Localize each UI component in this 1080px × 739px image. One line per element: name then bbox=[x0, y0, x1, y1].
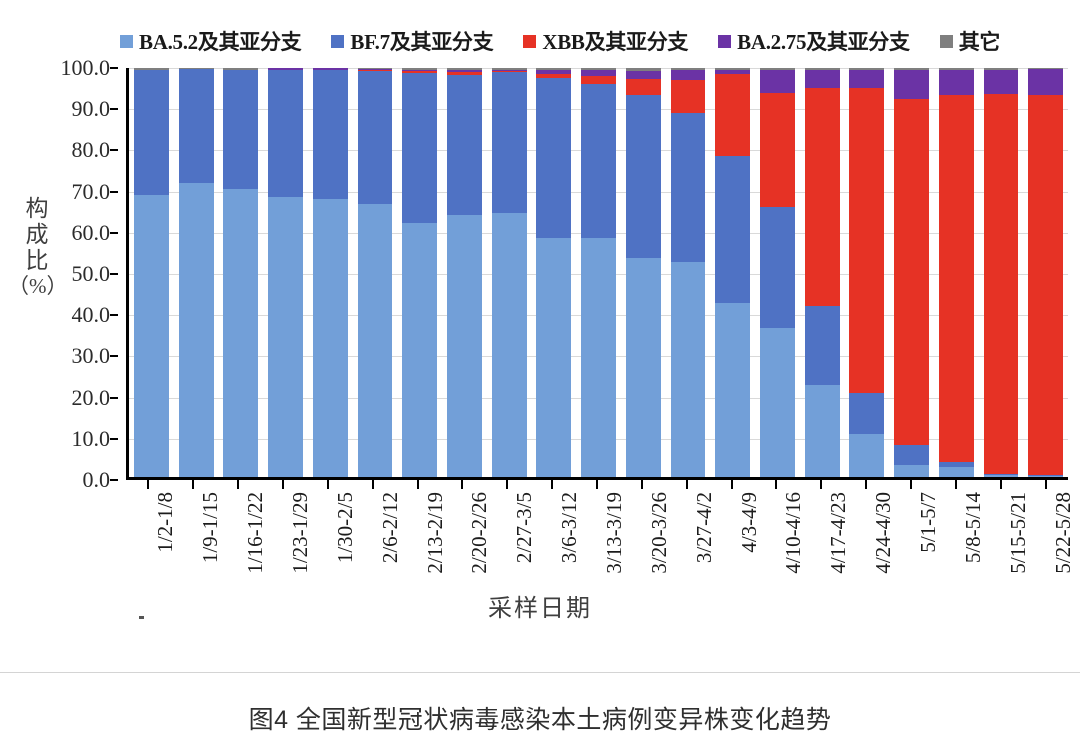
bar-segment-1 bbox=[626, 95, 661, 259]
y-tick-label-3: 30.0 bbox=[72, 343, 111, 369]
bar-segment-2 bbox=[805, 88, 840, 306]
bar-segment-0 bbox=[760, 328, 795, 477]
bar-segment-2 bbox=[1028, 95, 1063, 475]
legend-label-4: 其它 bbox=[959, 26, 1000, 56]
x-label-cell: 3/6-3/12 bbox=[530, 492, 575, 584]
legend-swatch-icon-3 bbox=[718, 35, 731, 48]
y-tick-mark-10 bbox=[110, 67, 118, 69]
x-tick-mark bbox=[596, 480, 598, 489]
bar-segment-3 bbox=[939, 70, 974, 95]
bar-column[interactable] bbox=[531, 68, 576, 477]
bar-segment-1 bbox=[671, 113, 706, 262]
stacked-bar bbox=[894, 68, 929, 477]
stacked-bar bbox=[223, 68, 258, 477]
bar-segment-2 bbox=[715, 74, 750, 156]
bar-segment-0 bbox=[492, 213, 527, 477]
x-label-cell: 1/2-1/8 bbox=[126, 492, 171, 584]
stacked-bar bbox=[179, 68, 214, 477]
stacked-bar bbox=[984, 68, 1019, 477]
y-axis-ticks: 0.010.020.030.040.050.060.070.080.090.01… bbox=[46, 60, 118, 485]
x-tick-mark bbox=[372, 480, 374, 489]
bar-segment-3 bbox=[849, 70, 884, 88]
stacked-bar bbox=[402, 68, 437, 477]
bar-segment-0 bbox=[268, 197, 303, 477]
bar-column[interactable] bbox=[1023, 68, 1068, 477]
x-tick-mark bbox=[686, 480, 688, 489]
bar-segment-3 bbox=[626, 71, 661, 79]
plot-area bbox=[126, 68, 1068, 480]
bar-segment-0 bbox=[1028, 476, 1063, 477]
stacked-bar bbox=[581, 68, 616, 477]
legend-item-1[interactable]: BF.7及其亚分支 bbox=[331, 26, 493, 56]
x-tick-cell bbox=[350, 480, 395, 490]
x-tick-mark bbox=[1045, 480, 1047, 489]
bar-segment-3 bbox=[805, 70, 840, 88]
bar-segment-2 bbox=[760, 93, 795, 208]
legend-item-3[interactable]: BA.2.75及其亚分支 bbox=[718, 26, 910, 56]
x-label-cell: 1/9-1/15 bbox=[171, 492, 216, 584]
y-tick-mark-6 bbox=[110, 232, 118, 234]
bar-segment-3 bbox=[671, 70, 706, 80]
stacked-bar bbox=[268, 68, 303, 477]
x-tick-cell bbox=[1023, 480, 1068, 490]
x-tick-mark bbox=[237, 480, 239, 489]
stacked-bar bbox=[1028, 68, 1063, 477]
bar-column[interactable] bbox=[755, 68, 800, 477]
bar-column[interactable] bbox=[800, 68, 845, 477]
bar-segment-0 bbox=[179, 183, 214, 477]
bar-segment-0 bbox=[805, 385, 840, 477]
x-label-cell: 5/15-5/21 bbox=[978, 492, 1023, 584]
legend-swatch-icon-0 bbox=[120, 35, 133, 48]
bar-segment-1 bbox=[536, 78, 571, 238]
legend-label-1: BF.7及其亚分支 bbox=[350, 26, 493, 56]
x-tick-cell bbox=[619, 480, 664, 490]
x-tick-cell bbox=[440, 480, 485, 490]
stacked-bar bbox=[358, 68, 393, 477]
bar-segment-2 bbox=[984, 94, 1019, 474]
x-axis-labels: 1/2-1/81/9-1/151/16-1/221/23-1/291/30-2/… bbox=[126, 492, 1068, 584]
y-tick-label-8: 80.0 bbox=[72, 137, 111, 163]
x-label-cell: 3/13-3/19 bbox=[575, 492, 620, 584]
y-tick-mark-4 bbox=[110, 314, 118, 316]
bar-segment-0 bbox=[536, 238, 571, 477]
bar-segment-1 bbox=[268, 70, 303, 197]
y-tick-mark-3 bbox=[110, 355, 118, 357]
bar-segment-2 bbox=[894, 99, 929, 445]
bar-column[interactable] bbox=[397, 68, 442, 477]
x-label-cell: 4/3-4/9 bbox=[709, 492, 754, 584]
bar-column[interactable] bbox=[174, 68, 219, 477]
x-tick-mark bbox=[955, 480, 957, 489]
y-tick-label-9: 90.0 bbox=[72, 96, 111, 122]
x-tick-mark bbox=[775, 480, 777, 489]
x-tick-cell bbox=[126, 480, 171, 490]
x-tick-cell bbox=[933, 480, 978, 490]
x-tick-cell bbox=[799, 480, 844, 490]
x-tick-cell bbox=[261, 480, 306, 490]
y-tick-label-2: 20.0 bbox=[72, 385, 111, 411]
x-tick-cell bbox=[754, 480, 799, 490]
bar-column[interactable] bbox=[218, 68, 263, 477]
stacked-bar bbox=[849, 68, 884, 477]
x-tick-mark bbox=[327, 480, 329, 489]
bar-segment-1 bbox=[402, 73, 437, 223]
x-label-cell: 2/13-2/19 bbox=[395, 492, 440, 584]
legend-item-4[interactable]: 其它 bbox=[940, 26, 1000, 56]
y-tick-mark-8 bbox=[110, 149, 118, 151]
bar-segment-2 bbox=[849, 88, 884, 393]
x-tick-cell bbox=[889, 480, 934, 490]
bar-segment-0 bbox=[447, 215, 482, 477]
x-axis-label: 5/22-5/28 bbox=[1053, 492, 1074, 574]
bar-column[interactable] bbox=[308, 68, 353, 477]
stacked-bar bbox=[134, 68, 169, 477]
chart-page: BA.5.2及其亚分支BF.7及其亚分支XBB及其亚分支BA.2.75及其亚分支… bbox=[0, 0, 1080, 739]
stacked-bar bbox=[536, 68, 571, 477]
bar-segment-0 bbox=[358, 204, 393, 477]
x-tick-mark bbox=[865, 480, 867, 489]
bar-segment-1 bbox=[447, 75, 482, 215]
bar-segment-0 bbox=[894, 465, 929, 477]
x-label-cell: 1/23-1/29 bbox=[261, 492, 306, 584]
bar-segment-1 bbox=[223, 70, 258, 189]
bar-column[interactable] bbox=[666, 68, 711, 477]
x-label-cell: 5/8-5/14 bbox=[933, 492, 978, 584]
y-tick-mark-5 bbox=[110, 273, 118, 275]
x-tick-cell bbox=[575, 480, 620, 490]
x-axis-ticks bbox=[126, 480, 1068, 490]
bar-segment-1 bbox=[492, 72, 527, 213]
bar-segment-2 bbox=[626, 79, 661, 95]
bar-segment-1 bbox=[134, 70, 169, 194]
x-tick-mark bbox=[1000, 480, 1002, 489]
bar-segment-3 bbox=[1028, 69, 1063, 94]
y-tick-label-0: 0.0 bbox=[83, 467, 111, 493]
bar-column[interactable] bbox=[889, 68, 934, 477]
stacked-bar bbox=[760, 68, 795, 477]
stacked-bar bbox=[492, 68, 527, 477]
bar-segment-3 bbox=[894, 70, 929, 99]
x-tick-cell bbox=[844, 480, 889, 490]
legend-swatch-icon-4 bbox=[940, 35, 953, 48]
x-label-cell: 4/24-4/30 bbox=[844, 492, 889, 584]
legend-item-2[interactable]: XBB及其亚分支 bbox=[523, 26, 688, 56]
x-tick-cell bbox=[171, 480, 216, 490]
bar-segment-0 bbox=[402, 223, 437, 477]
x-tick-mark bbox=[147, 480, 149, 489]
x-tick-cell bbox=[978, 480, 1023, 490]
chart-legend: BA.5.2及其亚分支BF.7及其亚分支XBB及其亚分支BA.2.75及其亚分支… bbox=[120, 26, 1070, 56]
x-tick-mark bbox=[506, 480, 508, 489]
bar-segment-3 bbox=[760, 70, 795, 92]
bar-segment-1 bbox=[715, 156, 750, 303]
x-tick-mark bbox=[282, 480, 284, 489]
x-label-cell: 2/6-2/12 bbox=[350, 492, 395, 584]
bar-segment-0 bbox=[849, 434, 884, 477]
section-divider bbox=[0, 672, 1080, 673]
x-label-cell: 5/1-5/7 bbox=[889, 492, 934, 584]
x-tick-mark bbox=[192, 480, 194, 489]
x-tick-mark bbox=[910, 480, 912, 489]
bar-segment-1 bbox=[849, 393, 884, 434]
x-tick-cell bbox=[709, 480, 754, 490]
stacked-bar bbox=[805, 68, 840, 477]
legend-label-0: BA.5.2及其亚分支 bbox=[139, 26, 301, 56]
bar-column[interactable] bbox=[129, 68, 174, 477]
stacked-bar bbox=[939, 68, 974, 477]
bar-segment-1 bbox=[179, 69, 214, 183]
stacked-bar bbox=[447, 68, 482, 477]
y-tick-label-1: 10.0 bbox=[72, 426, 111, 452]
bar-segment-1 bbox=[358, 71, 393, 204]
stacked-bar bbox=[313, 68, 348, 477]
x-label-cell: 3/27-4/2 bbox=[664, 492, 709, 584]
stacked-bar bbox=[715, 68, 750, 477]
y-tick-mark-7 bbox=[110, 191, 118, 193]
bar-segment-1 bbox=[805, 306, 840, 385]
bar-segment-1 bbox=[313, 70, 348, 199]
x-label-cell: 2/27-3/5 bbox=[485, 492, 530, 584]
legend-item-0[interactable]: BA.5.2及其亚分支 bbox=[120, 26, 301, 56]
bar-series-container bbox=[129, 68, 1068, 477]
bar-segment-0 bbox=[581, 238, 616, 477]
bar-segment-2 bbox=[671, 80, 706, 113]
figure-caption: 图4 全国新型冠状病毒感染本土病例变异株变化趋势 bbox=[0, 700, 1080, 736]
bar-segment-1 bbox=[894, 445, 929, 465]
bar-segment-2 bbox=[939, 95, 974, 462]
y-tick-mark-9 bbox=[110, 108, 118, 110]
x-label-cell: 2/20-2/26 bbox=[440, 492, 485, 584]
x-tick-mark bbox=[461, 480, 463, 489]
bar-segment-0 bbox=[626, 258, 661, 477]
y-tick-mark-0 bbox=[110, 479, 118, 481]
x-label-cell: 1/30-2/5 bbox=[305, 492, 350, 584]
x-tick-mark bbox=[551, 480, 553, 489]
bar-column[interactable] bbox=[934, 68, 979, 477]
bar-segment-0 bbox=[313, 199, 348, 477]
bar-segment-0 bbox=[984, 475, 1019, 477]
x-tick-mark bbox=[641, 480, 643, 489]
bar-segment-0 bbox=[715, 303, 750, 477]
x-tick-cell bbox=[216, 480, 261, 490]
y-tick-label-6: 60.0 bbox=[72, 220, 111, 246]
legend-label-3: BA.2.75及其亚分支 bbox=[737, 26, 910, 56]
x-label-cell: 1/16-1/22 bbox=[216, 492, 261, 584]
x-tick-cell bbox=[395, 480, 440, 490]
legend-label-2: XBB及其亚分支 bbox=[542, 26, 688, 56]
x-tick-cell bbox=[530, 480, 575, 490]
bar-column[interactable] bbox=[845, 68, 890, 477]
x-tick-cell bbox=[305, 480, 350, 490]
stacked-bar bbox=[671, 68, 706, 477]
stacked-bar bbox=[626, 68, 661, 477]
bar-column[interactable] bbox=[710, 68, 755, 477]
x-label-cell: 5/22-5/28 bbox=[1023, 492, 1068, 584]
y-tick-mark-2 bbox=[110, 397, 118, 399]
y-tick-label-4: 40.0 bbox=[72, 302, 111, 328]
x-tick-cell bbox=[485, 480, 530, 490]
bar-column[interactable] bbox=[442, 68, 487, 477]
bar-column[interactable] bbox=[487, 68, 532, 477]
x-label-cell: 4/17-4/23 bbox=[799, 492, 844, 584]
legend-swatch-icon-2 bbox=[523, 35, 536, 48]
bar-column[interactable] bbox=[979, 68, 1024, 477]
bar-column[interactable] bbox=[353, 68, 398, 477]
legend-swatch-icon-1 bbox=[331, 35, 344, 48]
x-label-cell: 4/10-4/16 bbox=[754, 492, 799, 584]
bar-segment-0 bbox=[939, 467, 974, 477]
x-tick-mark bbox=[417, 480, 419, 489]
y-tick-label-7: 70.0 bbox=[72, 179, 111, 205]
plot-wrapper: 0.010.020.030.040.050.060.070.080.090.01… bbox=[0, 60, 1080, 485]
x-tick-cell bbox=[664, 480, 709, 490]
bar-column[interactable] bbox=[621, 68, 666, 477]
bar-segment-1 bbox=[760, 207, 795, 328]
bar-segment-1 bbox=[581, 84, 616, 237]
x-label-cell: 3/20-3/26 bbox=[619, 492, 664, 584]
bar-segment-0 bbox=[134, 195, 169, 477]
y-tick-label-10: 100.0 bbox=[61, 55, 111, 81]
bar-segment-0 bbox=[223, 189, 258, 477]
y-tick-label-5: 50.0 bbox=[72, 261, 111, 287]
bar-segment-0 bbox=[671, 262, 706, 477]
x-tick-mark bbox=[820, 480, 822, 489]
y-tick-mark-1 bbox=[110, 438, 118, 440]
x-axis-title: 采样日期 bbox=[0, 588, 1080, 623]
x-tick-mark bbox=[731, 480, 733, 489]
bar-segment-2 bbox=[581, 76, 616, 84]
bar-column[interactable] bbox=[576, 68, 621, 477]
bar-segment-3 bbox=[984, 70, 1019, 95]
stray-mark bbox=[139, 616, 144, 619]
bar-column[interactable] bbox=[263, 68, 308, 477]
